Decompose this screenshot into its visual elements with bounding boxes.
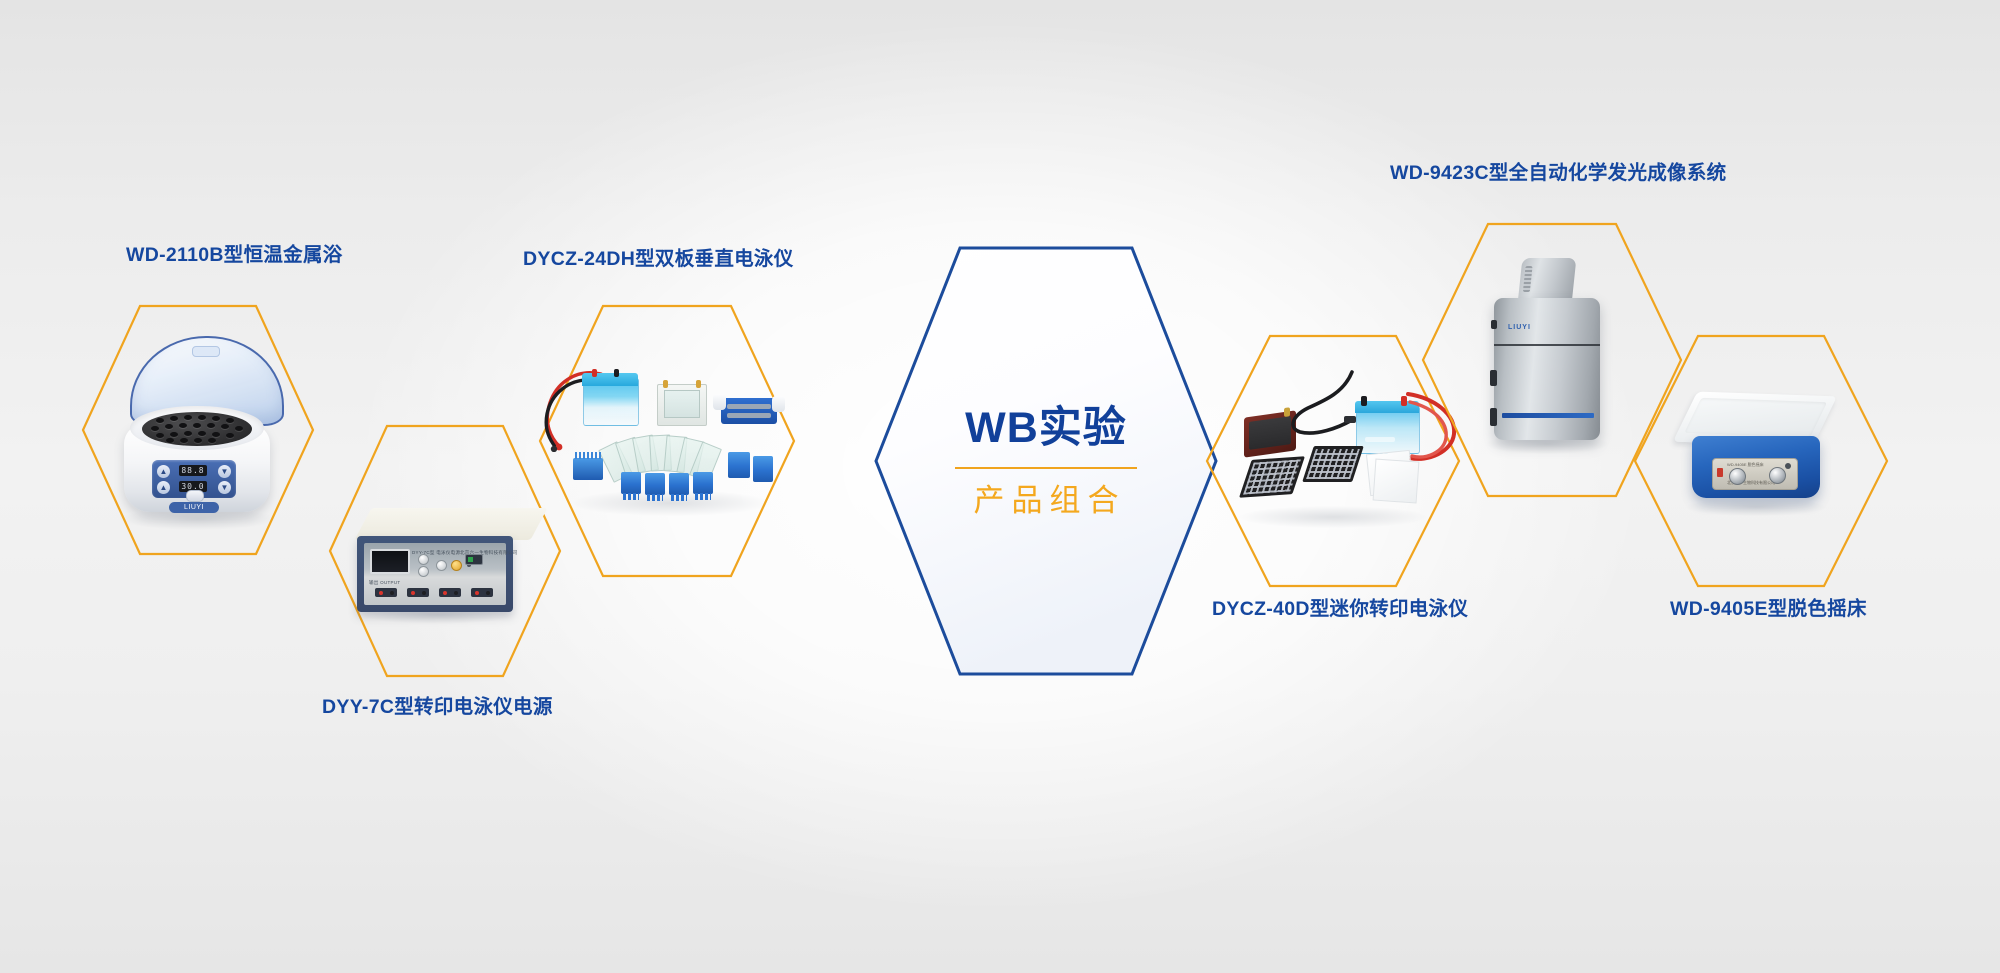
node-label-vertical-electrophoresis: DYCZ-24DH型双板垂直电泳仪	[523, 242, 794, 271]
hex-outline-vertical-electrophoresis	[535, 300, 799, 582]
node-label-imager: WD-9423C型全自动化学发光成像系统	[1390, 156, 1726, 185]
node-label-metal-bath: WD-2110B型恒温金属浴	[126, 238, 343, 267]
node-metal-bath[interactable]: WD-2110B型恒温金属浴	[78, 300, 338, 580]
hex-outline-metal-bath	[78, 300, 318, 560]
hex-outline-power-supply	[325, 420, 565, 682]
hex-outline-shaker	[1630, 330, 1892, 592]
node-label-shaker: WD-9405E型脱色摇床	[1670, 592, 1867, 621]
poster-canvas: WB实验 产品组合 WD-2110B型恒温金属浴	[0, 0, 2000, 973]
node-label-mini-transfer: DYCZ-40D型迷你转印电泳仪	[1212, 592, 1468, 621]
center-hexagon	[868, 240, 1224, 682]
node-vertical-electrophoresis[interactable]: DYCZ-24DH型双板垂直电泳仪	[535, 300, 815, 590]
node-decolorizing-shaker[interactable]: WD-9405E型脱色摇床 WD-9405E 脱色摇床 北京六一生物科技有限公司	[1630, 330, 1910, 600]
node-label-power-supply: DYY-7C型转印电泳仪电源	[322, 690, 553, 719]
